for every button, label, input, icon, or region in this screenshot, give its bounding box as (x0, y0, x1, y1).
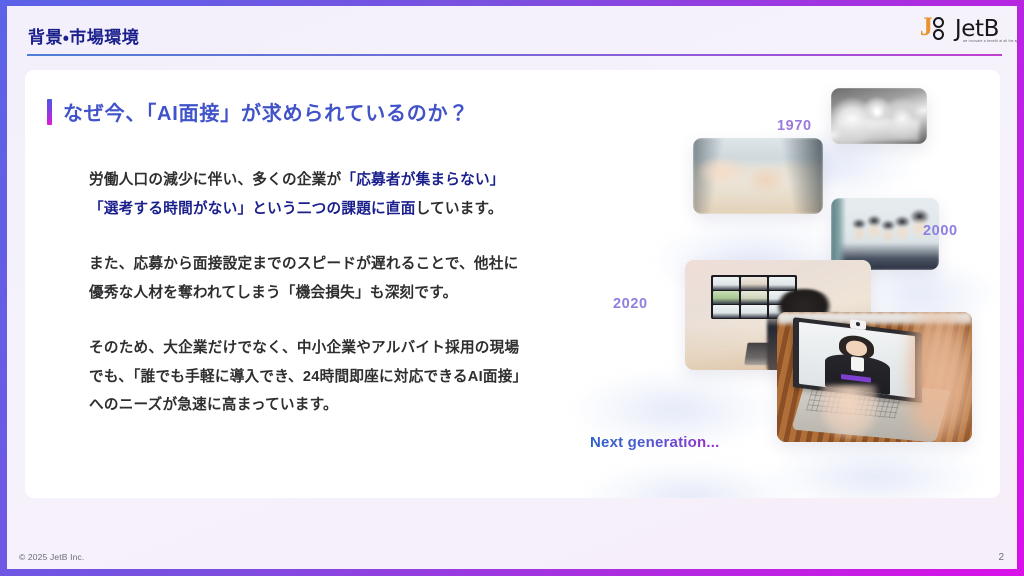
content-card: なぜ今、「AI面接」が求められているのか？ 労働人口の減少に伴い、多くの企業が「… (25, 70, 1000, 498)
paragraph-2: また、応募から面接設定までのスピードが遅れることで、他社に優秀な人材を奪われてし… (89, 250, 526, 307)
vintage-group-interview-photo (831, 88, 927, 144)
participant-tile (741, 277, 768, 290)
laptop-ai-interview-photo (777, 312, 972, 442)
page-number: 2 (998, 552, 1004, 563)
typing-hand (820, 385, 879, 440)
section-heading: なぜ今、「AI面接」が求められているのか？ (47, 97, 469, 126)
timeline-label-2020: 2020 (613, 296, 648, 312)
jetb-logo: J JetB we innovate a benefit at all the … (920, 16, 999, 42)
timeline-label-1970: 1970 (777, 118, 812, 134)
timeline-label-next-generation: Next generation... (590, 434, 719, 451)
jetb-logo-mark-icon: J (920, 16, 950, 42)
jetb-tagline: we innovate a benefit at all the space (963, 39, 1017, 43)
collage-glow-5 (585, 462, 795, 498)
desk-documents-interview-photo (693, 138, 823, 214)
jetb-wordmark: JetB (955, 18, 999, 41)
participant-tile (769, 291, 796, 304)
slide: 背景・市場環境 J JetB we innovate a benefit at … (0, 0, 1024, 576)
logo-circle-top-icon (933, 17, 944, 28)
timeline-collage: 1970 2000 2020 Next generation... (545, 70, 1000, 498)
participant-tile (741, 305, 768, 318)
page-title: 背景・市場環境 (28, 23, 139, 48)
participant-tile (713, 277, 740, 290)
logo-circle-bottom-icon (933, 29, 944, 40)
foreground-blur (910, 312, 972, 442)
slide-inner-surface: 背景・市場環境 J JetB we innovate a benefit at … (7, 6, 1017, 569)
paragraph-1: 労働人口の減少に伴い、多くの企業が「応募者が集まらない」「選考する時間がない」と… (89, 166, 526, 223)
paragraph-1-lead: 労働人口の減少に伴い、多くの企業が (89, 172, 341, 188)
paragraph-1-tail: しています。 (416, 201, 503, 217)
participant-tile (713, 291, 740, 304)
section-heading-text: なぜ今、「AI面接」が求められているのか？ (63, 97, 469, 126)
photo-fill (693, 138, 823, 214)
header-divider (27, 54, 1002, 56)
collage-glow-6 (770, 442, 980, 498)
participant-tile (769, 277, 796, 290)
participant-tile (741, 291, 768, 304)
logo-j-glyph: J (920, 14, 933, 40)
footer-copyright: © 2025 JetB Inc. (19, 552, 84, 562)
body-text-column: 労働人口の減少に伴い、多くの企業が「応募者が集まらない」「選考する時間がない」と… (89, 166, 526, 420)
slide-header: 背景・市場環境 J JetB we innovate a benefit at … (7, 6, 1017, 58)
paragraph-3: そのため、大企業だけでなく、中小企業やアルバイト採用の現場でも、「誰でも手軽に導… (89, 334, 526, 420)
photo-fill (831, 88, 927, 144)
participant-tile (713, 305, 740, 318)
jetb-logo-textwrap: JetB we innovate a benefit at all the sp… (955, 18, 999, 41)
section-accent-bar (47, 99, 52, 125)
timeline-label-2000: 2000 (923, 223, 958, 239)
